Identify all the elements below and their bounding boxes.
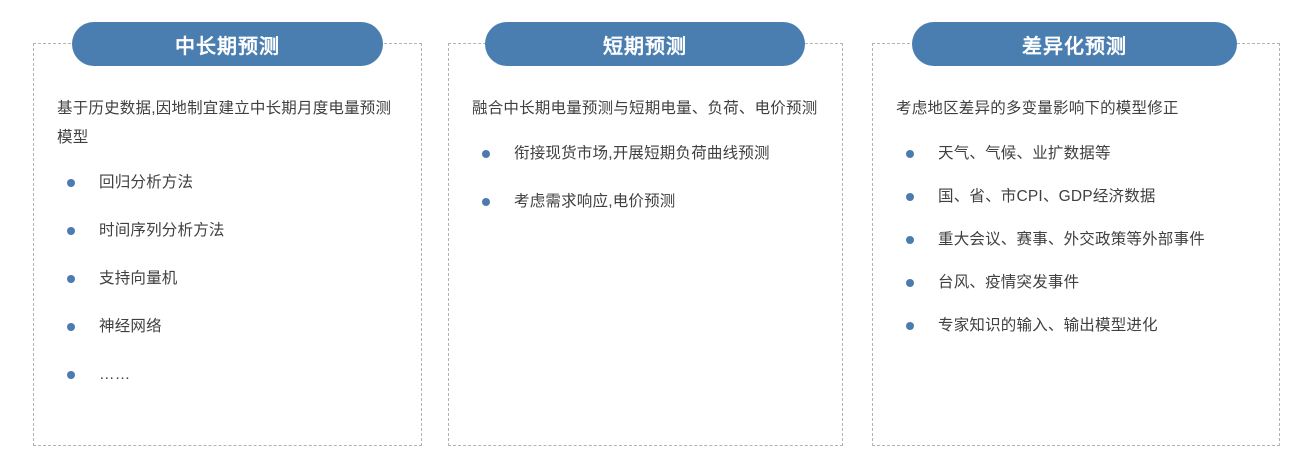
list-item: ……	[57, 360, 402, 389]
panel-title-medium-long-term: 中长期预测	[72, 22, 383, 66]
list-item-label: 考虑需求响应,电价预测	[514, 193, 676, 210]
list-item: 台风、疫情突发事件	[896, 268, 1260, 297]
bullet-dot-icon	[906, 236, 914, 244]
list-item: 衔接现货市场,开展短期负荷曲线预测	[472, 139, 823, 168]
list-item-label: 天气、气候、业扩数据等	[938, 145, 1111, 162]
bullet-dot-icon	[67, 227, 75, 235]
list-item: 专家知识的输入、输出模型进化	[896, 311, 1260, 340]
list-item-label: 台风、疫情突发事件	[938, 274, 1079, 291]
list-item-label: 重大会议、赛事、外交政策等外部事件	[938, 231, 1205, 248]
panel-title-differentiated: 差异化预测	[912, 22, 1237, 66]
bullet-dot-icon	[482, 198, 490, 206]
panel-short-term-forecast: 短期预测 融合中长期电量预测与短期电量、负荷、电价预测 衔接现货市场,开展短期负…	[448, 43, 843, 446]
bullet-dot-icon	[67, 179, 75, 187]
panel-description: 融合中长期电量预测与短期电量、负荷、电价预测	[472, 94, 823, 123]
list-item-label: 支持向量机	[99, 270, 178, 287]
panel-differentiated-forecast: 差异化预测 考虑地区差异的多变量影响下的模型修正 天气、气候、业扩数据等 国、省…	[872, 43, 1280, 446]
bullet-dot-icon	[67, 275, 75, 283]
list-item: 神经网络	[57, 312, 402, 341]
list-item-label: ……	[99, 366, 130, 383]
forecast-panels-diagram: 中长期预测 基于历史数据,因地制宜建立中长期月度电量预测模型 回归分析方法 时间…	[0, 0, 1305, 464]
panel-content: 考虑地区差异的多变量影响下的模型修正 天气、气候、业扩数据等 国、省、市CPI、…	[872, 43, 1280, 446]
list-item: 国、省、市CPI、GDP经济数据	[896, 182, 1260, 211]
bullet-dot-icon	[67, 371, 75, 379]
list-item-label: 神经网络	[99, 318, 162, 335]
bullet-dot-icon	[906, 193, 914, 201]
list-item-label: 时间序列分析方法	[99, 222, 225, 239]
panel-description: 考虑地区差异的多变量影响下的模型修正	[896, 94, 1260, 123]
list-item-label: 专家知识的输入、输出模型进化	[938, 317, 1158, 334]
panel-description: 基于历史数据,因地制宜建立中长期月度电量预测模型	[57, 94, 402, 152]
list-item: 回归分析方法	[57, 168, 402, 197]
list-item: 重大会议、赛事、外交政策等外部事件	[896, 225, 1260, 254]
bullet-dot-icon	[906, 279, 914, 287]
list-item: 支持向量机	[57, 264, 402, 293]
list-item: 天气、气候、业扩数据等	[896, 139, 1260, 168]
bullet-list: 衔接现货市场,开展短期负荷曲线预测 考虑需求响应,电价预测	[472, 139, 823, 216]
list-item: 考虑需求响应,电价预测	[472, 187, 823, 216]
panel-content: 基于历史数据,因地制宜建立中长期月度电量预测模型 回归分析方法 时间序列分析方法…	[33, 43, 422, 446]
list-item-label: 回归分析方法	[99, 174, 193, 191]
list-item-label: 衔接现货市场,开展短期负荷曲线预测	[514, 145, 770, 162]
bullet-dot-icon	[67, 323, 75, 331]
panel-content: 融合中长期电量预测与短期电量、负荷、电价预测 衔接现货市场,开展短期负荷曲线预测…	[448, 43, 843, 446]
panel-title-short-term: 短期预测	[485, 22, 805, 66]
bullet-list: 回归分析方法 时间序列分析方法 支持向量机 神经网络 ……	[57, 168, 402, 389]
list-item-label: 国、省、市CPI、GDP经济数据	[938, 188, 1156, 205]
bullet-dot-icon	[906, 322, 914, 330]
bullet-dot-icon	[482, 150, 490, 158]
panel-medium-long-term-forecast: 中长期预测 基于历史数据,因地制宜建立中长期月度电量预测模型 回归分析方法 时间…	[33, 43, 422, 446]
bullet-dot-icon	[906, 150, 914, 158]
list-item: 时间序列分析方法	[57, 216, 402, 245]
bullet-list: 天气、气候、业扩数据等 国、省、市CPI、GDP经济数据 重大会议、赛事、外交政…	[896, 139, 1260, 340]
